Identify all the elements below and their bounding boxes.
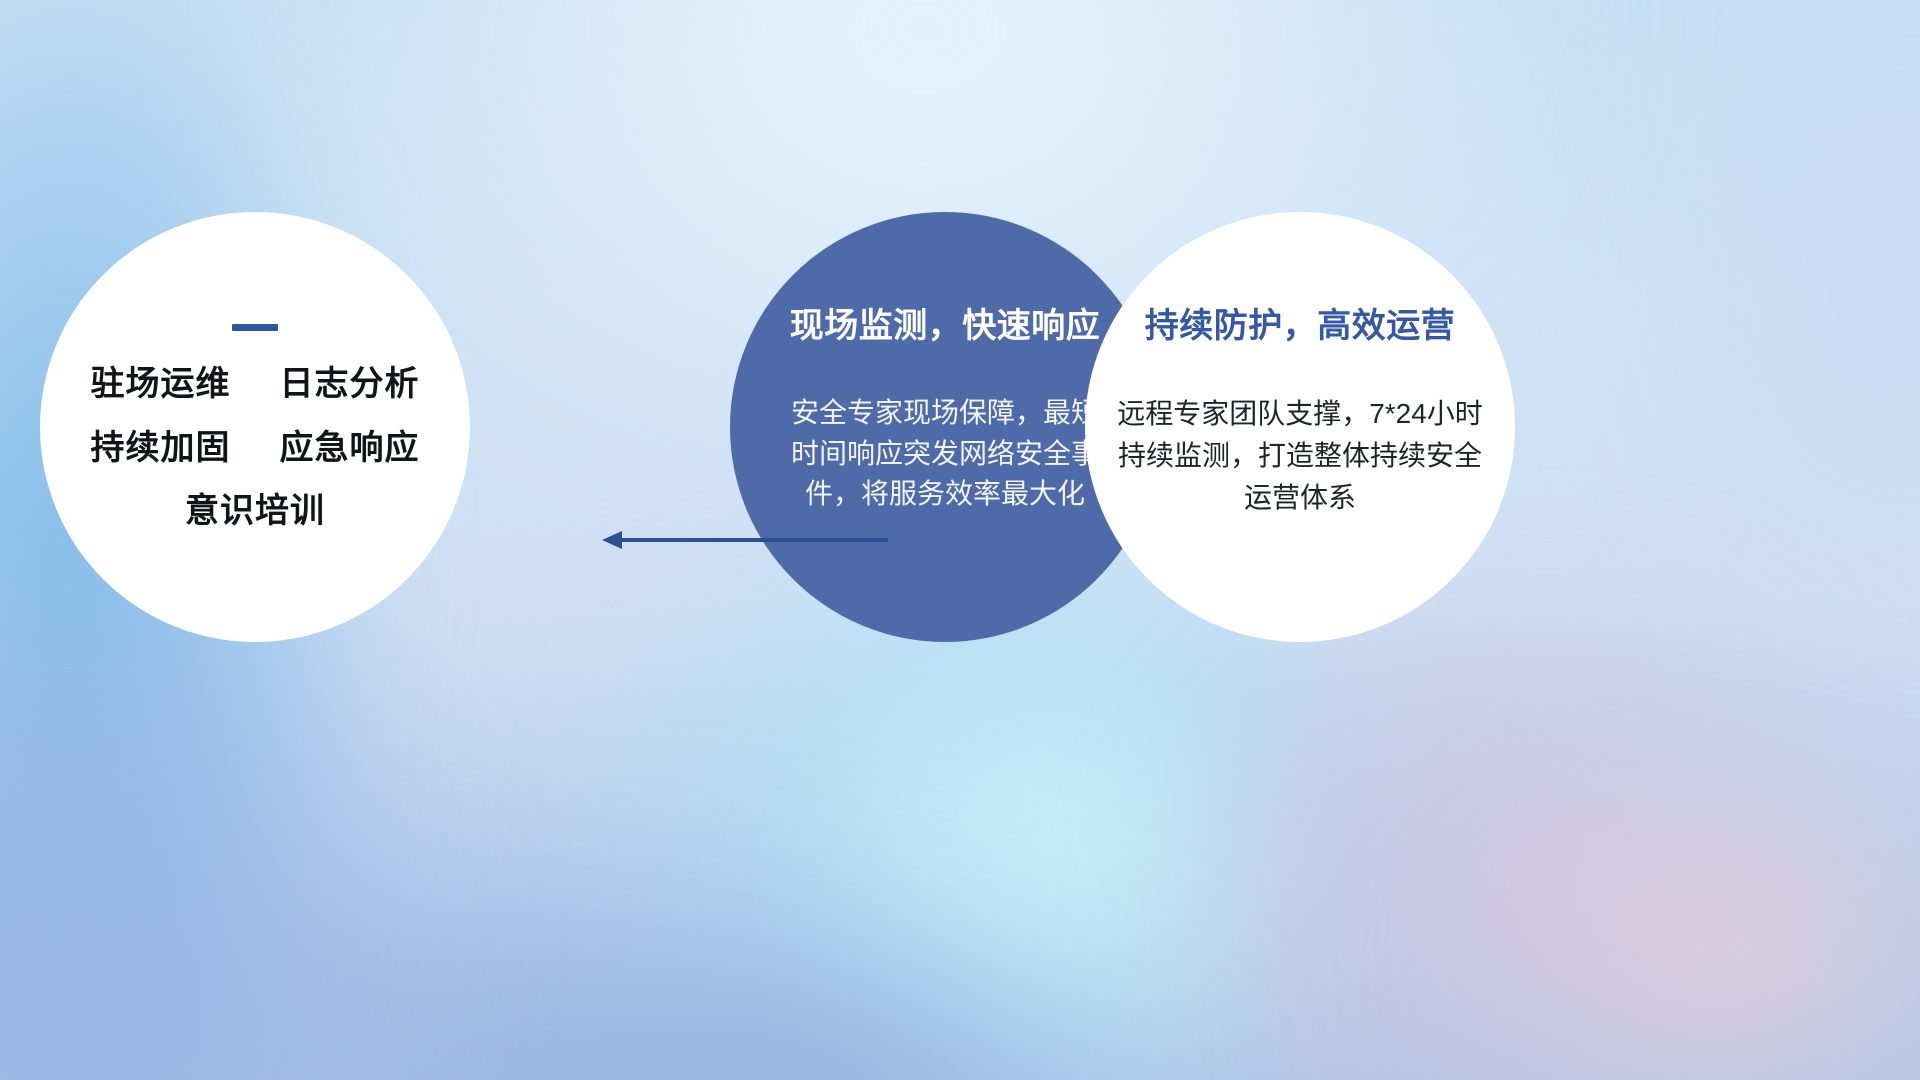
capability-tag-onsite-ops: 驻场运维 [91,365,231,403]
capability-tag-continuous-hardening: 持续加固 [91,429,231,467]
capability-circle-left[interactable]: 驻场运维 日志分析 持续加固 应急响应 意识培训 [40,212,470,642]
capability-tag-awareness-training: 意识培训 [185,492,325,530]
divider-dash [232,324,278,331]
capability-row-2: 持续加固 应急响应 [91,431,420,467]
middle-circle-heading: 现场监测，快速响应 [790,298,1101,347]
right-circle-body: 远程专家团队支撑，7*24小时持续监测，打造整体持续安全运营体系 [1112,393,1488,519]
flow-arrow [600,520,890,560]
capability-circle-right[interactable]: 持续防护，高效运营 远程专家团队支撑，7*24小时持续监测，打造整体持续安全运营… [1085,212,1515,642]
arrow-left-icon [600,520,890,560]
capability-row-1: 驻场运维 日志分析 [91,367,420,403]
right-circle-heading: 持续防护，高效运营 [1145,298,1456,347]
capability-row-3: 意识培训 [185,494,325,530]
capability-tag-emergency-response: 应急响应 [279,429,419,467]
middle-circle-body: 安全专家现场保障，最短时间响应突发网络安全事件，将服务效率最大化 [786,393,1104,515]
capability-tag-log-analysis: 日志分析 [279,365,419,403]
slide-canvas: 驻场运维 日志分析 持续加固 应急响应 意识培训 现场监测，快速响应 安全专家现… [0,0,1920,1080]
